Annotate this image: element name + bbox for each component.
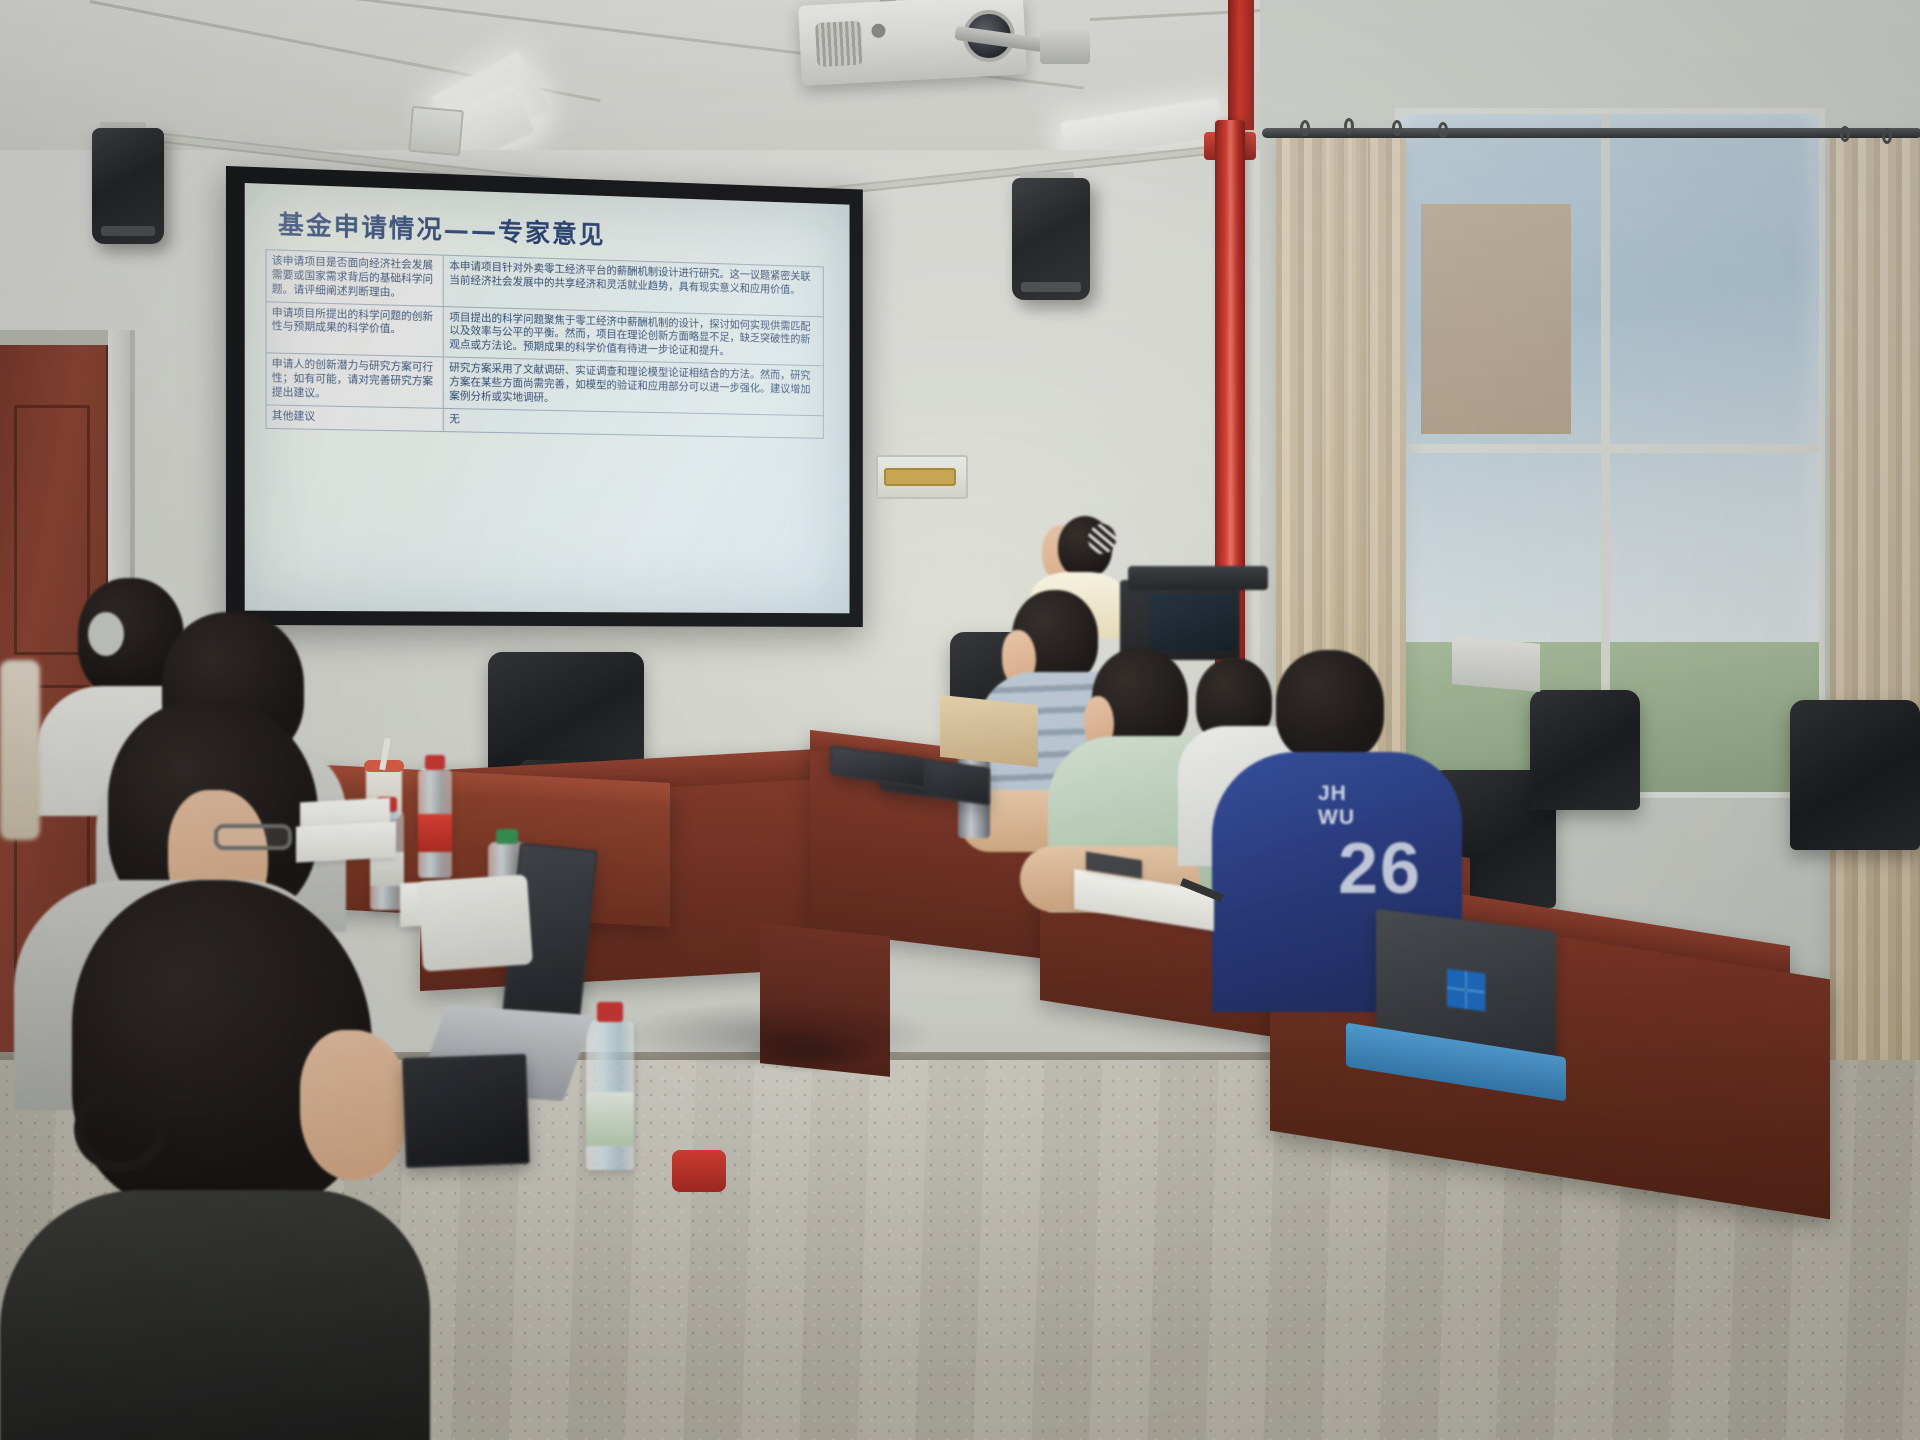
projector-knob	[871, 23, 886, 38]
curtain-hook	[1882, 128, 1892, 144]
paper-stack[interactable]	[296, 821, 396, 862]
attendee-face	[300, 1030, 410, 1180]
table-cell-criterion: 申请人的创新潜力与研究方案可行性；如有可能，请对完善研究方案提出建议。	[266, 353, 444, 408]
table-cell-comment: 项目提出的科学问题聚焦于零工经济中薪酬机制的设计，探讨如何实现供需匹配以及效率与…	[444, 306, 823, 366]
windows-logo-icon	[1447, 969, 1485, 1012]
wall-panel-label	[884, 468, 956, 486]
presenter-hair-clip	[1088, 524, 1116, 554]
bag-on-table	[417, 874, 533, 971]
door-panel-upper	[14, 405, 90, 655]
floor-shadow	[740, 1030, 880, 1074]
curtain-hook	[1300, 120, 1310, 136]
bottle-cap	[425, 755, 444, 770]
laptop-screen[interactable]	[402, 1054, 530, 1168]
office-chair-right-2[interactable]	[1530, 690, 1640, 810]
expert-opinion-table: 该申请项目是否面向经济社会发展需要或国家需求背后的基础科学问题。请评细阐述判断理…	[266, 249, 824, 438]
curtain-hook	[1840, 126, 1850, 142]
eyeglasses-icon	[214, 824, 292, 850]
projection-surface: 基金申请情况——专家意见 该申请项目是否面向经济社会发展需要或国家需求背后的基础…	[245, 183, 850, 613]
curtain-rod	[1262, 128, 1920, 138]
window-mullion	[1401, 444, 1819, 453]
office-chair-right-3[interactable]	[1790, 700, 1920, 850]
side-cabinet	[1452, 636, 1540, 692]
presentation-slide: 基金申请情况——专家意见 该申请项目是否面向经济社会发展需要或国家需求背后的基础…	[245, 183, 850, 613]
bottle-cap	[597, 1002, 624, 1022]
jersey-number-text: 26	[1338, 828, 1422, 910]
water-bottle[interactable]	[418, 768, 452, 878]
curtain-fold	[1316, 138, 1368, 698]
attendee-torso	[0, 1190, 430, 1440]
cardboard-box	[940, 695, 1038, 767]
monitor-screen	[1150, 594, 1236, 650]
bottle-label	[418, 814, 452, 851]
office-chair-center[interactable]	[488, 652, 644, 772]
outside-building	[1421, 204, 1571, 434]
curtain-right[interactable]	[1830, 138, 1920, 1098]
table-cell-criterion: 该申请项目是否面向经济社会发展需要或国家需求背后的基础科学问题。请评细阐述判断理…	[266, 250, 444, 306]
attendee-hair-clip	[88, 612, 124, 656]
curtain-hook	[1392, 120, 1402, 136]
monitor-shelf	[1128, 566, 1268, 590]
curtain-hook	[1344, 118, 1354, 134]
projector-vent	[815, 21, 863, 67]
table-cell-comment: 研究方案采用了文献调研、实证调查和理论模型论证相结合的方法。然而，研究方案在某些…	[444, 357, 823, 415]
wall-speaker-right	[1012, 178, 1090, 300]
foreground-chair-edge	[0, 660, 40, 840]
table-cell-criterion: 申请项目所提出的科学问题的创新性与预期成果的科学价值。	[266, 301, 444, 357]
fire-pipe-upper	[1228, 0, 1254, 130]
attendee-head	[1276, 650, 1384, 762]
bottle-cap	[496, 829, 517, 844]
projection-screen: 基金申请情况——专家意见 该申请项目是否面向经济社会发展需要或国家需求背后的基础…	[226, 166, 863, 627]
curtain-hook	[1438, 122, 1448, 138]
wall-speaker-left	[92, 128, 164, 244]
bottle-label	[586, 1092, 634, 1146]
hair-accessory-icon	[74, 1086, 166, 1172]
table-cell-criterion: 其他建议	[266, 405, 444, 432]
meeting-room-photo: 基金申请情况——专家意见 该申请项目是否面向经济社会发展需要或国家需求背后的基础…	[0, 0, 1920, 1440]
wall-junction-box	[408, 106, 464, 156]
jersey-name-text: JH WU	[1318, 782, 1355, 830]
bottle-cap-loose[interactable]	[672, 1150, 726, 1192]
projector-cable-box	[1040, 30, 1090, 64]
